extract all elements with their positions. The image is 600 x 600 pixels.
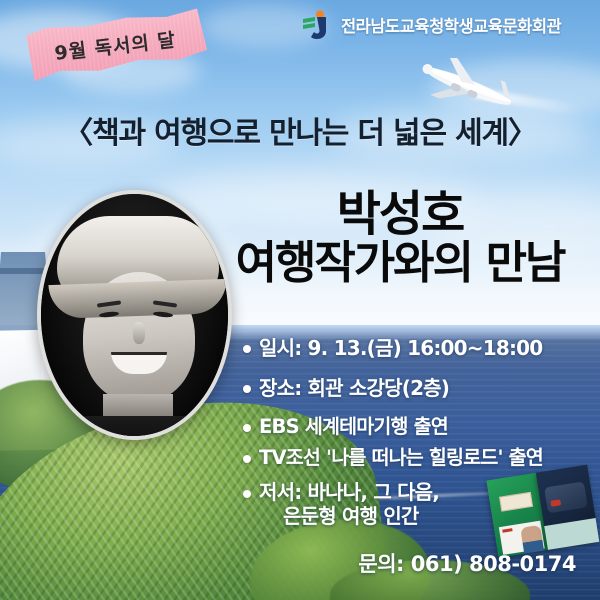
speaker-portrait-photo [37,190,232,440]
airplane-icon [408,58,526,114]
detail-books: 저서: 바나나, 그 다음, 은둔형 여행 인간 [259,481,439,528]
bullet-dot-icon [243,490,251,498]
book-cover-art [544,481,588,513]
cap-brim [48,279,227,319]
detail-books-line1: 저서: 바나나, 그 다음, [259,480,439,504]
book-covers-image [486,464,600,559]
organization-name: 전라남도교육청학생교육문화회관 [341,13,561,37]
list-item: 일시: 9. 13.(금) 16:00~18:00 [243,336,593,362]
contact-info: 문의: 061) 808-0174 [0,548,600,578]
detail-tv-chosun: TV조선 '나를 떠나는 힐링로드' 출연 [259,446,543,471]
book-cover-navy [536,465,600,550]
organization-logo: 전라남도교육청학생교육문화회관 [300,8,561,42]
nose [133,322,145,344]
list-item: EBS 세계테마기행 출연 [243,415,593,440]
event-title: 여행작가와의 만남 [205,240,595,287]
bullet-dot-icon [243,424,251,432]
detail-venue: 장소: 회관 소강당(2층) [259,376,449,402]
page-title: 박성호 여행작가와의 만남 [205,190,595,287]
bullet-dot-icon [243,345,251,353]
speaker-name: 박성호 [205,190,595,240]
detail-books-line2: 은둔형 여행 인간 [259,505,439,529]
institution-logo-icon [300,8,334,42]
event-subtitle: 〈책과 여행으로 만나는 더 넓은 세계〉 [0,108,600,152]
detail-datetime: 일시: 9. 13.(금) 16:00~18:00 [259,336,542,362]
bullet-dot-icon [243,455,251,463]
list-item: 장소: 회관 소강당(2층) [243,376,593,402]
bullet-dot-icon [243,385,251,393]
event-poster: 9월 독서의 달 전라남도교육청학생교육문화회관 [0,0,600,600]
book-label [499,492,533,512]
detail-tv-ebs: EBS 세계테마기행 출연 [259,415,448,440]
list-item: TV조선 '나를 떠나는 힐링로드' 출연 [243,446,593,471]
